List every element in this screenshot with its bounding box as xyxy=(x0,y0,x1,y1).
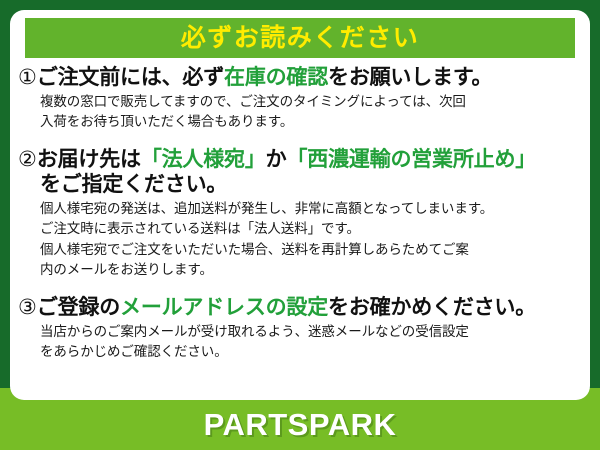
notice-item-2-heading-line2: をご指定ください。 xyxy=(18,172,582,198)
notice-item-3-heading-highlight: メールアドレスの設定 xyxy=(120,296,328,319)
header-banner: 必ずお読みください xyxy=(25,18,575,58)
notice-item-3-heading: ③ご登録のメールアドレスの設定をお確かめください。 xyxy=(18,295,582,321)
brand-name: PARTSPARK xyxy=(204,407,397,443)
notice-item-1: ①ご注文前には、必ず在庫の確認をお願いします。 複数の窓口で販売してますので、ご… xyxy=(18,65,582,133)
notice-item-2-heading-highlight-2: 「西濃運輸の営業所止め」 xyxy=(286,148,536,171)
notice-item-1-heading: ①ご注文前には、必ず在庫の確認をお願いします。 xyxy=(18,65,582,91)
notice-item-1-number: ① xyxy=(18,66,37,89)
notice-poster: 必ずお読みください ①ご注文前には、必ず在庫の確認をお願いします。 複数の窓口で… xyxy=(0,0,600,450)
notice-item-3-body: 当店からのご案内メールが受け取れるよう、迷惑メールなどの受信設定 をあらかじめご… xyxy=(40,322,582,363)
notice-content: ①ご注文前には、必ず在庫の確認をお願いします。 複数の窓口で販売してますので、ご… xyxy=(10,65,590,365)
brand-footer: PARTSPARK xyxy=(0,400,600,450)
notice-item-1-heading-pre: ご注文前には、必ず xyxy=(37,66,224,89)
notice-item-2-number: ② xyxy=(18,148,37,171)
notice-item-3: ③ご登録のメールアドレスの設定をお確かめください。 当店からのご案内メールが受け… xyxy=(18,295,582,363)
notice-item-2: ②お届け先は「法人様宛」か「西濃運輸の営業所止め」をご指定ください。 個人様宅宛… xyxy=(18,147,582,281)
banner-title: 必ずお読みください xyxy=(181,26,420,51)
notice-item-1-heading-highlight: 在庫の確認 xyxy=(224,66,328,89)
notice-item-1-body: 複数の窓口で販売してますので、ご注文のタイミングによっては、次回 入荷をお待ち頂… xyxy=(40,92,582,133)
notice-item-2-body: 個人様宅宛の発送は、追加送料が発生し、非常に高額となってしまいます。 ご注文時に… xyxy=(40,199,582,281)
notice-item-3-heading-post: をお確かめください。 xyxy=(328,296,536,319)
notice-card: 必ずお読みください ①ご注文前には、必ず在庫の確認をお願いします。 複数の窓口で… xyxy=(10,10,590,400)
notice-item-1-heading-post: をお願いします。 xyxy=(328,66,492,89)
notice-item-2-heading-pre: お届け先は xyxy=(37,148,141,171)
notice-item-3-number: ③ xyxy=(18,296,37,319)
notice-item-2-heading-highlight: 「法人様宛」 xyxy=(141,148,266,171)
notice-item-3-heading-pre: ご登録の xyxy=(37,296,120,319)
notice-item-2-heading: ②お届け先は「法人様宛」か「西濃運輸の営業所止め」をご指定ください。 xyxy=(18,147,582,198)
notice-item-2-heading-mid: か xyxy=(266,148,287,171)
